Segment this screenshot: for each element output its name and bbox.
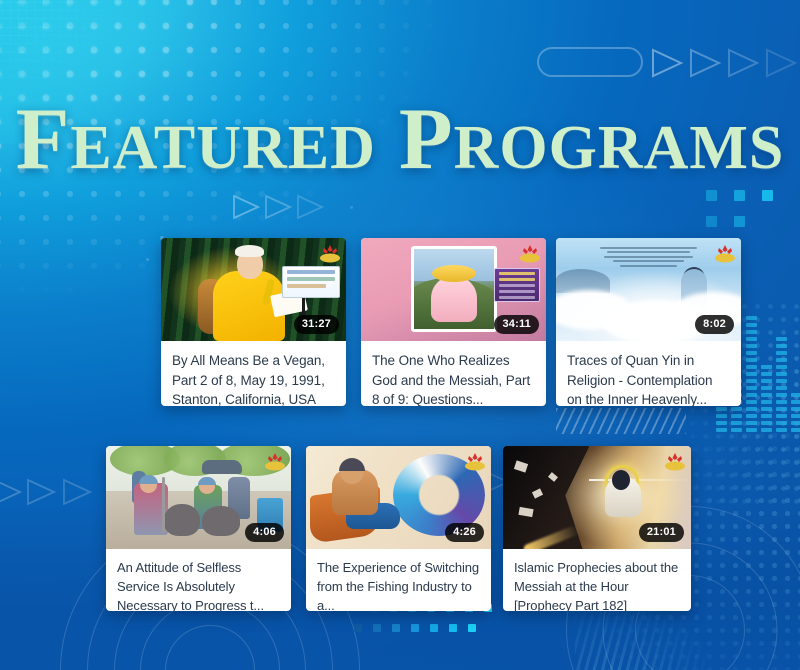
program-card[interactable]: 34:11 The One Who Realizes God and the M… [361,238,546,406]
play-bar-outline-icon [537,47,643,77]
accent-dot-3 [350,206,353,209]
program-thumbnail[interactable]: 4:26 [306,446,491,549]
featured-programs-banner: Featured Programs 31 [0,0,800,670]
program-thumbnail[interactable]: 4:06 [106,446,291,549]
page-title: Featured Programs [0,96,800,184]
program-title[interactable]: By All Means Be a Vegan, Part 2 of 8, Ma… [172,351,335,406]
program-title[interactable]: The One Who Realizes God and the Messiah… [372,351,535,406]
diagonal-line-accent [556,408,686,434]
duration-badge: 21:01 [639,523,684,542]
program-title[interactable]: Islamic Prophecies about the Messiah at … [514,559,680,611]
triangle-outline-icon-3 [726,47,760,79]
program-title[interactable]: The Experience of Switching from the Fis… [317,559,480,611]
triangle-outline-icon-9 [26,478,56,506]
program-title[interactable]: An Attitude of Selfless Service Is Absol… [117,559,280,611]
duration-badge: 4:26 [445,523,484,542]
program-card[interactable]: 4:06 An Attitude of Selfless Service Is … [106,446,291,611]
triangle-outline-icon-2 [688,47,722,79]
program-card-body: Traces of Quan Yin in Religion - Contemp… [556,341,741,406]
program-thumbnail[interactable]: 21:01 [503,446,691,549]
program-card-body: By All Means Be a Vegan, Part 2 of 8, Ma… [161,341,346,406]
triangle-outline-icon-4 [764,47,798,79]
program-thumbnail[interactable]: 8:02 [556,238,741,341]
program-thumbnail[interactable]: 31:27 [161,238,346,341]
supreme-master-tv-logo-icon [463,450,485,470]
program-card-body: Islamic Prophecies about the Messiah at … [503,549,691,611]
duration-badge: 4:06 [245,523,284,542]
supreme-master-tv-logo-icon [318,242,340,262]
triangle-outline-icon-1 [650,47,684,79]
program-card[interactable]: 4:26 The Experience of Switching from th… [306,446,491,611]
accent-dot-2 [146,258,149,261]
program-card-body: The Experience of Switching from the Fis… [306,549,491,611]
program-title[interactable]: Traces of Quan Yin in Religion - Contemp… [567,351,730,406]
duration-badge: 34:11 [494,315,539,334]
square-dot-row-2 [354,624,476,632]
triangle-outline-icon-8 [0,478,22,506]
triangle-outline-icon-7 [296,194,324,220]
supreme-master-tv-logo-icon [518,242,540,262]
triangle-outline-icon-6 [264,194,292,220]
program-thumbnail[interactable]: 34:11 [361,238,546,341]
program-card-body: An Attitude of Selfless Service Is Absol… [106,549,291,611]
duration-badge: 8:02 [695,315,734,334]
program-card[interactable]: 31:27 By All Means Be a Vegan, Part 2 of… [161,238,346,406]
supreme-master-tv-logo-icon [663,450,685,470]
program-card-body: The One Who Realizes God and the Messiah… [361,341,546,406]
duration-badge: 31:27 [294,315,339,334]
supreme-master-tv-logo-icon [713,242,735,262]
program-card[interactable]: 21:01 Islamic Prophecies about the Messi… [503,446,691,611]
program-card[interactable]: 8:02 Traces of Quan Yin in Religion - Co… [556,238,741,406]
supreme-master-tv-logo-icon [263,450,285,470]
triangle-outline-icon-10 [62,478,92,506]
triangle-outline-icon-5 [232,194,260,220]
